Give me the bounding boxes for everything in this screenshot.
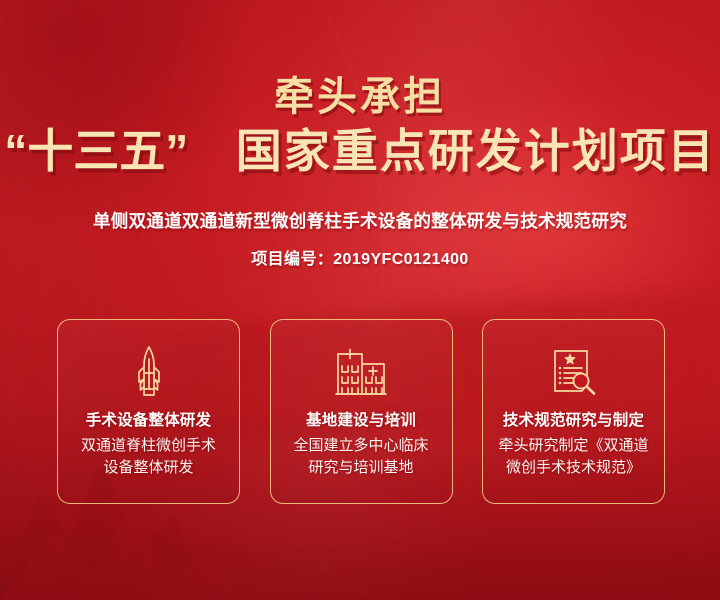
card-description: 全国建立多中心临床 研究与培训基地 xyxy=(285,435,436,479)
card-title: 基地建设与培训 xyxy=(306,408,416,430)
card-item-standards[interactable]: 技术规范研究与制定 牵头研究制定《双通道 微创手术技术规范》 xyxy=(482,319,665,504)
page-title-line1: 牵头承担 xyxy=(0,74,720,120)
card-item-training-base[interactable]: 基地建设与培训 全国建立多中心临床 研究与培训基地 xyxy=(270,319,453,504)
card-description: 牵头研究制定《双通道 微创手术技术规范》 xyxy=(490,435,656,479)
card-list: 手术设备整体研发 双通道脊柱微创手术 设备整体研发 xyxy=(57,319,665,504)
card-description-line2: 微创手术技术规范》 xyxy=(498,457,648,479)
card-description-line1: 牵头研究制定《双通道 xyxy=(498,435,648,457)
certificate-search-icon xyxy=(546,344,602,400)
page-title-line2: “十三五” 国家重点研发计划项目 xyxy=(0,124,720,179)
hospital-building-icon xyxy=(333,344,389,400)
header-block: 牵头承担 “十三五” 国家重点研发计划项目 xyxy=(0,74,720,179)
card-title: 技术规范研究与制定 xyxy=(503,408,644,430)
card-description-line1: 双通道脊柱微创手术 xyxy=(81,435,216,457)
card-description-line2: 研究与培训基地 xyxy=(293,457,428,479)
card-description-line1: 全国建立多中心临床 xyxy=(293,435,428,457)
card-item-research[interactable]: 手术设备整体研发 双通道脊柱微创手术 设备整体研发 xyxy=(57,319,240,504)
card-description: 双通道脊柱微创手术 设备整体研发 xyxy=(73,435,224,479)
rocket-icon xyxy=(121,344,177,400)
poster-banner: 牵头承担 “十三五” 国家重点研发计划项目 单侧双通道双通道新型微创脊柱手术设备… xyxy=(0,0,720,600)
project-number: 项目编号：2019YFC0121400 xyxy=(0,245,720,269)
page-title-rest-part: 国家重点研发计划项目 xyxy=(236,125,716,177)
page-title-quoted-part: “十三五” xyxy=(4,125,188,177)
card-description-line2: 设备整体研发 xyxy=(81,457,216,479)
page-subtitle: 单侧双通道双通道新型微创脊柱手术设备的整体研发与技术规范研究 xyxy=(0,208,720,233)
card-title: 手术设备整体研发 xyxy=(86,408,212,430)
